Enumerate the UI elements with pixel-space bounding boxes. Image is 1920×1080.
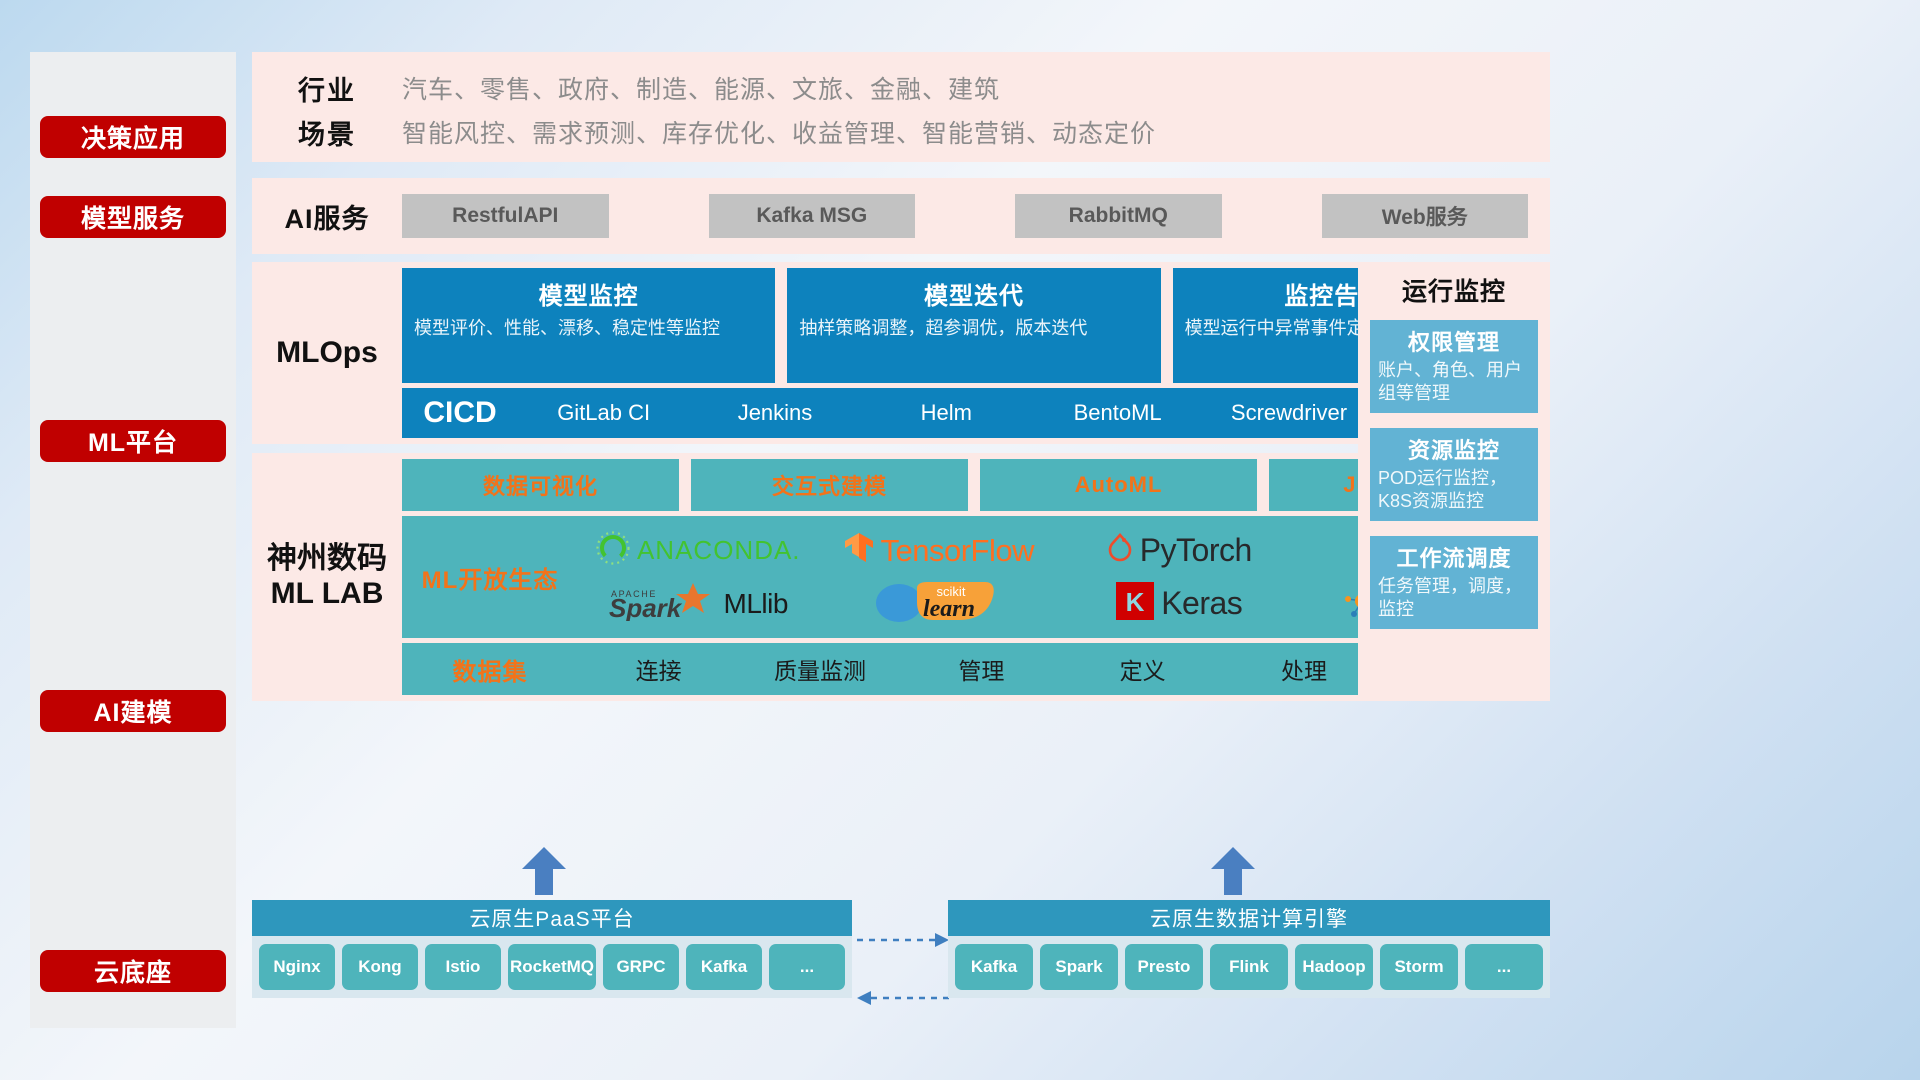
cloud-connectors-icon (855, 918, 951, 1023)
card-title: 模型迭代 (799, 276, 1148, 311)
monitoring-card-permission[interactable]: 权限管理 账户、角色、用户组等管理 (1370, 320, 1538, 413)
industry-label: 行业 (252, 69, 402, 108)
monitoring-title: 运行监控 (1370, 272, 1538, 308)
logo-pytorch: PyTorch (1107, 532, 1252, 569)
card-desc: 账户、角色、用户组等管理 (1378, 359, 1530, 405)
data-engine-chip[interactable]: Presto (1125, 944, 1203, 990)
scenario-row: 场景 智能风控、需求预测、库存优化、收益管理、智能营销、动态定价 (252, 110, 1550, 154)
card-title: 工作流调度 (1378, 541, 1530, 573)
paas-chip[interactable]: Kong (342, 944, 418, 990)
dataset-item[interactable]: 质量监测 (739, 652, 900, 686)
logo-scikit-learn: scikit learn (873, 578, 1005, 629)
stage-label: 云底座 (94, 953, 172, 989)
cicd-title: CICD (402, 396, 518, 430)
dataset-item[interactable]: 管理 (901, 652, 1062, 686)
paas-chip[interactable]: RocketMQ (508, 944, 596, 990)
mlops-label: MLOps (252, 262, 402, 444)
monitoring-card-workflow[interactable]: 工作流调度 任务管理，调度，监控 (1370, 536, 1538, 629)
cicd-item[interactable]: Helm (861, 399, 1032, 427)
ml-lab-label-line1: 神州数码 (267, 542, 387, 577)
ai-service-chip[interactable]: RestfulAPI (402, 194, 609, 238)
paas-chip[interactable]: Istio (425, 944, 501, 990)
dataset-item[interactable]: 定义 (1062, 652, 1223, 686)
pytorch-wordmark: PyTorch (1140, 532, 1252, 569)
data-engine-chips: Kafka Spark Presto Flink Hadoop Storm ..… (948, 936, 1550, 998)
mllib-wordmark: MLlib (724, 588, 788, 620)
scikit-learn-icon: scikit learn (873, 578, 1005, 629)
cloud-native-data-engine-group: 云原生数据计算引擎 Kafka Spark Presto Flink Hadoo… (948, 900, 1550, 998)
tensorflow-icon (844, 531, 874, 570)
svg-text:K: K (1126, 587, 1145, 617)
anaconda-icon (596, 531, 630, 570)
up-arrow-data-engine-icon (1209, 845, 1257, 902)
keras-wordmark: Keras (1161, 585, 1242, 622)
stage-chip-cloud-base[interactable]: 云底座 (40, 950, 226, 992)
data-engine-chip[interactable]: Flink (1210, 944, 1288, 990)
mlops-card-model-iteration[interactable]: 模型迭代 抽样策略调整，超参调优，版本迭代 (787, 268, 1160, 383)
paas-title: 云原生PaaS平台 (252, 900, 852, 936)
logo-tensorflow: TensorFlow (844, 531, 1035, 570)
mlops-card-model-monitoring[interactable]: 模型监控 模型评价、性能、漂移、稳定性等监控 (402, 268, 775, 383)
spark-icon: APACHE Spark (609, 581, 721, 626)
lab-tool-interactive-modeling[interactable]: 交互式建模 (691, 459, 968, 511)
ai-service-chip[interactable]: Kafka MSG (709, 194, 916, 238)
pytorch-icon (1107, 532, 1133, 569)
data-engine-title: 云原生数据计算引擎 (948, 900, 1550, 936)
cloud-native-paas-group: 云原生PaaS平台 Nginx Kong Istio RocketMQ GRPC… (252, 900, 852, 998)
data-engine-chip[interactable]: Hadoop (1295, 944, 1373, 990)
svg-text:learn: learn (923, 596, 975, 622)
logo-anaconda: ANACONDA. (596, 531, 801, 570)
paas-chip[interactable]: Nginx (259, 944, 335, 990)
cicd-item[interactable]: Jenkins (689, 399, 860, 427)
stage-chip-model-service[interactable]: 模型服务 (40, 196, 226, 238)
anaconda-wordmark: ANACONDA. (637, 535, 801, 566)
paas-chip[interactable]: Kafka (686, 944, 762, 990)
monitoring-card-resource[interactable]: 资源监控 POD运行监控，K8S资源监控 (1370, 428, 1538, 521)
data-engine-chip[interactable]: Storm (1380, 944, 1458, 990)
paas-chips: Nginx Kong Istio RocketMQ GRPC Kafka ... (252, 936, 852, 998)
ai-service-chip[interactable]: Web服务 (1322, 194, 1529, 238)
card-title: 权限管理 (1378, 325, 1530, 357)
ml-lab-band: 神州数码 ML LAB 数据可视化 交互式建模 AutoML JupyterLa… (252, 453, 1550, 701)
scenario-values: 智能风控、需求预测、库存优化、收益管理、智能营销、动态定价 (402, 114, 1156, 150)
industry-row: 行业 汽车、零售、政府、制造、能源、文旅、金融、建筑 (252, 66, 1550, 110)
ml-lab-label-line2: ML LAB (267, 577, 387, 612)
stage-chip-ai-modeling[interactable]: AI建模 (40, 690, 226, 732)
stage-label: AI建模 (93, 693, 172, 729)
logo-keras: K Keras (1116, 582, 1242, 625)
paas-chip[interactable]: GRPC (603, 944, 679, 990)
tensorflow-wordmark: TensorFlow (881, 533, 1035, 569)
card-desc: 任务管理，调度，监控 (1378, 575, 1530, 621)
cicd-item[interactable]: BentoML (1032, 399, 1203, 427)
ml-ecosystem-label: ML开放生态 (402, 560, 578, 595)
cicd-item[interactable]: Screwdriver (1203, 399, 1374, 427)
mlops-band: MLOps 模型监控 模型评价、性能、漂移、稳定性等监控 模型迭代 抽样策略调整… (252, 262, 1550, 444)
ai-service-list: RestfulAPI Kafka MSG RabbitMQ Web服务 (402, 194, 1550, 238)
dataset-title: 数据集 (402, 652, 578, 687)
ai-service-band: AI服务 RestfulAPI Kafka MSG RabbitMQ Web服务 (252, 178, 1550, 254)
card-desc: 模型评价、性能、漂移、稳定性等监控 (414, 317, 763, 340)
decision-app-band: 行业 汽车、零售、政府、制造、能源、文旅、金融、建筑 场景 智能风控、需求预测、… (252, 52, 1550, 162)
stage-chip-decision-app[interactable]: 决策应用 (40, 116, 226, 158)
architecture-diagram: 决策应用 模型服务 ML平台 AI建模 云底座 行业 汽车、零售、政府、制造、能… (0, 0, 1920, 1080)
cicd-item[interactable]: GitLab CI (518, 399, 689, 427)
data-engine-chip[interactable]: Kafka (955, 944, 1033, 990)
card-desc: 抽样策略调整，超参调优，版本迭代 (799, 317, 1148, 340)
ai-service-chip[interactable]: RabbitMQ (1015, 194, 1222, 238)
stage-label: ML平台 (88, 423, 178, 459)
svg-text:Spark: Spark (609, 593, 683, 621)
ml-lab-label: 神州数码 ML LAB (252, 453, 402, 701)
ai-service-label: AI服务 (252, 197, 402, 236)
card-title: 模型监控 (414, 276, 763, 311)
logo-spark-mllib: APACHE Spark MLlib (609, 581, 788, 626)
stage-label: 决策应用 (81, 119, 185, 155)
card-desc: POD运行监控，K8S资源监控 (1378, 467, 1530, 513)
lab-tool-automl[interactable]: AutoML (980, 459, 1257, 511)
keras-icon: K (1116, 582, 1154, 625)
dataset-item[interactable]: 连接 (578, 652, 739, 686)
card-title: 资源监控 (1378, 433, 1530, 465)
runtime-monitoring-panel: 运行监控 权限管理 账户、角色、用户组等管理 资源监控 POD运行监控，K8S资… (1358, 262, 1550, 701)
up-arrow-paas-icon (520, 845, 568, 902)
lab-tool-data-visualization[interactable]: 数据可视化 (402, 459, 679, 511)
stage-label: 模型服务 (81, 199, 185, 235)
paas-chip[interactable]: ... (769, 944, 845, 990)
stage-chip-ml-platform[interactable]: ML平台 (40, 420, 226, 462)
industry-values: 汽车、零售、政府、制造、能源、文旅、金融、建筑 (402, 70, 1000, 106)
data-engine-chip[interactable]: Spark (1040, 944, 1118, 990)
data-engine-chip[interactable]: ... (1465, 944, 1543, 990)
scenario-label: 场景 (252, 113, 402, 152)
